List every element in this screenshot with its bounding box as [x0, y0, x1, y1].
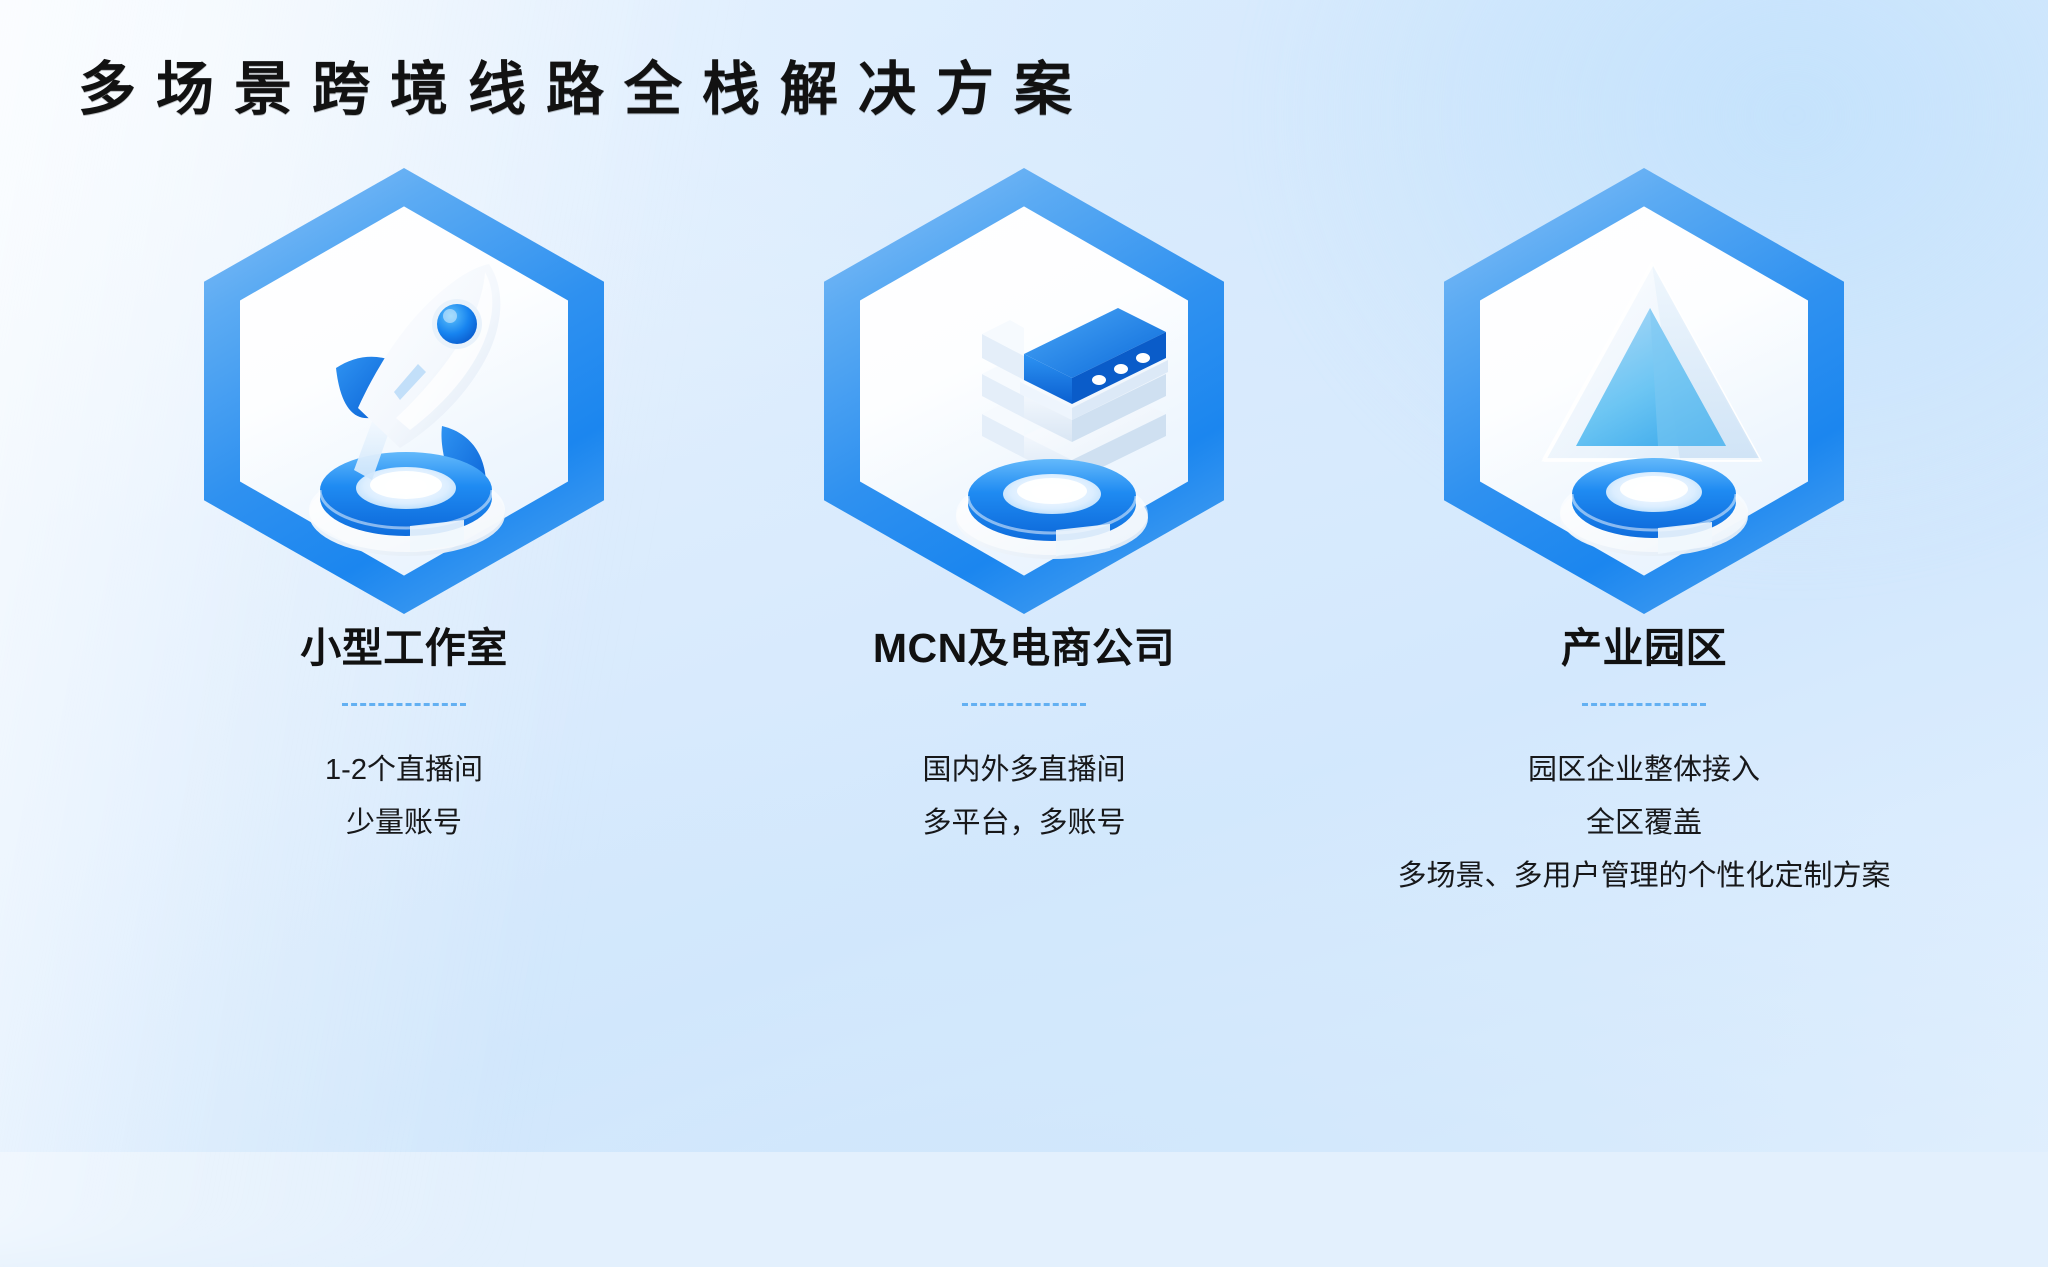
- card-description: 国内外多直播间 多平台，多账号: [922, 744, 1125, 850]
- card-description: 园区企业整体接入 全区覆盖 多场景、多用户管理的个性化定制方案: [1397, 744, 1890, 902]
- rocket-icon: [204, 168, 604, 614]
- card-title: 小型工作室: [300, 628, 508, 669]
- card-desc-line: 多平台，多账号: [922, 797, 1125, 850]
- card-title: 产业园区: [1561, 628, 1727, 669]
- card-desc-line: 园区企业整体接入: [1397, 744, 1890, 797]
- page-title: 多场景跨境线路全栈解决方案: [78, 58, 1092, 122]
- solution-card-mcn[interactable]: MCN及电商公司 国内外多直播间 多平台，多账号: [714, 168, 1334, 850]
- card-desc-line: 国内外多直播间: [922, 744, 1125, 797]
- hexagon-badge-mcn: [824, 168, 1224, 614]
- solution-card-park[interactable]: 产业园区 园区企业整体接入 全区覆盖 多场景、多用户管理的个性化定制方案: [1334, 168, 1954, 902]
- card-divider: [342, 703, 466, 706]
- solution-card-studio[interactable]: 小型工作室 1-2个直播间 少量账号: [94, 168, 714, 850]
- card-desc-line: 多场景、多用户管理的个性化定制方案: [1397, 850, 1890, 903]
- hexagon-badge-studio: [204, 168, 604, 614]
- solution-cards-row: 小型工作室 1-2个直播间 少量账号: [0, 168, 2048, 1068]
- card-title: MCN及电商公司: [873, 628, 1175, 669]
- card-divider: [962, 703, 1086, 706]
- card-desc-line: 少量账号: [325, 797, 483, 850]
- card-divider: [1582, 703, 1706, 706]
- card-desc-line: 1-2个直播间: [325, 744, 483, 797]
- card-description: 1-2个直播间 少量账号: [325, 744, 483, 850]
- card-desc-line: 全区覆盖: [1397, 797, 1890, 850]
- hexagon-badge-park: [1444, 168, 1844, 614]
- server-stack-icon: [824, 168, 1224, 614]
- pyramid-icon: [1444, 168, 1844, 614]
